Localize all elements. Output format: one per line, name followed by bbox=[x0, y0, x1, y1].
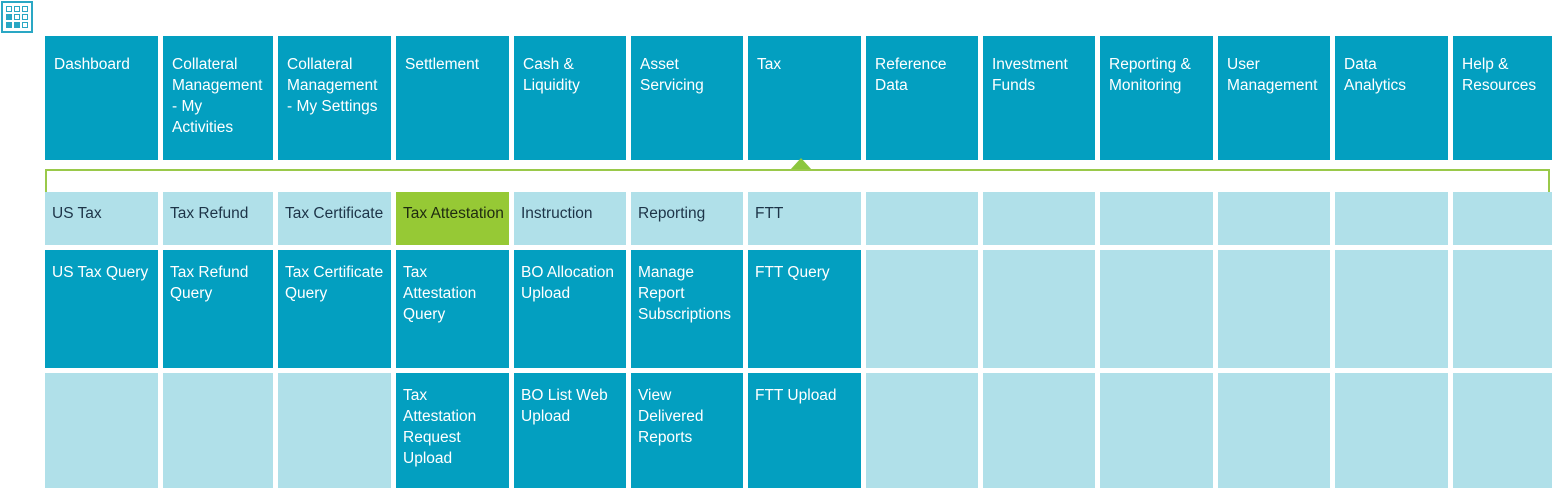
submenu-empty-cell bbox=[1453, 250, 1552, 368]
submenu-column bbox=[1335, 192, 1448, 488]
submenu-category-header[interactable]: US Tax bbox=[45, 192, 158, 245]
grid-cell bbox=[22, 22, 28, 28]
primary-menu-item[interactable]: Dashboard bbox=[45, 36, 158, 160]
submenu-empty-cell bbox=[1218, 192, 1330, 245]
submenu-empty-cell bbox=[45, 373, 158, 488]
submenu-column: FTTFTT QueryFTT Upload bbox=[748, 192, 861, 488]
primary-menu-item[interactable]: User Management bbox=[1218, 36, 1330, 160]
grid-cell bbox=[14, 6, 20, 12]
primary-menu-item[interactable]: Settlement bbox=[396, 36, 509, 160]
submenu-empty-cell bbox=[1453, 192, 1552, 245]
submenu-column bbox=[1100, 192, 1213, 488]
submenu-empty-cell bbox=[1453, 373, 1552, 488]
grid-cell bbox=[6, 22, 12, 28]
submenu-empty-cell bbox=[278, 373, 391, 488]
submenu-category-header[interactable]: Tax Attestation bbox=[396, 192, 509, 245]
submenu-empty-cell bbox=[1335, 192, 1448, 245]
submenu-item[interactable]: View Delivered Reports bbox=[631, 373, 743, 488]
submenu-column: Tax CertificateTax Certificate Query bbox=[278, 192, 391, 488]
submenu-empty-cell bbox=[1100, 373, 1213, 488]
submenu-frame-border bbox=[45, 169, 1550, 192]
grid-cell bbox=[6, 6, 12, 12]
submenu-column bbox=[983, 192, 1095, 488]
submenu-column bbox=[1218, 192, 1330, 488]
submenu-column: InstructionBO Allocation UploadBO List W… bbox=[514, 192, 626, 488]
grid-cell bbox=[22, 6, 28, 12]
primary-navigation-menu: DashboardCollateral Management - My Acti… bbox=[45, 36, 1552, 160]
primary-menu-item[interactable]: Cash & Liquidity bbox=[514, 36, 626, 160]
submenu-column bbox=[1453, 192, 1552, 488]
grid-cell bbox=[14, 22, 20, 28]
primary-menu-item[interactable]: Data Analytics bbox=[1335, 36, 1448, 160]
submenu-empty-cell bbox=[866, 373, 978, 488]
primary-menu-item[interactable]: Collateral Management - My Activities bbox=[163, 36, 273, 160]
submenu-grid: US TaxUS Tax QueryTax RefundTax Refund Q… bbox=[45, 192, 1552, 488]
primary-menu-item[interactable]: Collateral Management - My Settings bbox=[278, 36, 391, 160]
app-launcher-button[interactable] bbox=[1, 1, 33, 33]
submenu-category-header[interactable]: Instruction bbox=[514, 192, 626, 245]
grid-cell bbox=[6, 14, 12, 20]
submenu-empty-cell bbox=[1100, 192, 1213, 245]
submenu-empty-cell bbox=[983, 192, 1095, 245]
primary-menu-item[interactable]: Help & Resources bbox=[1453, 36, 1552, 160]
primary-menu-item[interactable]: Investment Funds bbox=[983, 36, 1095, 160]
primary-menu-item[interactable]: Tax bbox=[748, 36, 861, 160]
submenu-empty-cell bbox=[1335, 250, 1448, 368]
primary-menu-item[interactable]: Asset Servicing bbox=[631, 36, 743, 160]
submenu-empty-cell bbox=[1218, 373, 1330, 488]
submenu-column: US TaxUS Tax Query bbox=[45, 192, 158, 488]
submenu-empty-cell bbox=[1100, 250, 1213, 368]
submenu-category-header[interactable]: FTT bbox=[748, 192, 861, 245]
submenu-item[interactable]: Tax Refund Query bbox=[163, 250, 273, 368]
submenu-item[interactable]: Tax Attestation Request Upload bbox=[396, 373, 509, 488]
submenu-item[interactable]: Tax Attestation Query bbox=[396, 250, 509, 368]
submenu-item[interactable]: FTT Upload bbox=[748, 373, 861, 488]
grid-cell bbox=[22, 14, 28, 20]
submenu-item[interactable]: BO List Web Upload bbox=[514, 373, 626, 488]
submenu-empty-cell bbox=[866, 192, 978, 245]
submenu-column: Tax RefundTax Refund Query bbox=[163, 192, 273, 488]
submenu-empty-cell bbox=[983, 250, 1095, 368]
submenu-item[interactable]: BO Allocation Upload bbox=[514, 250, 626, 368]
submenu-category-header[interactable]: Tax Refund bbox=[163, 192, 273, 245]
submenu-column: ReportingManage Report SubscriptionsView… bbox=[631, 192, 743, 488]
submenu-empty-cell bbox=[1218, 250, 1330, 368]
submenu-category-header[interactable]: Tax Certificate bbox=[278, 192, 391, 245]
submenu-empty-cell bbox=[163, 373, 273, 488]
submenu-column bbox=[866, 192, 978, 488]
submenu-column: Tax AttestationTax Attestation QueryTax … bbox=[396, 192, 509, 488]
grid-apps-icon bbox=[6, 6, 28, 28]
submenu-empty-cell bbox=[1335, 373, 1448, 488]
submenu-item[interactable]: US Tax Query bbox=[45, 250, 158, 368]
submenu-item[interactable]: Tax Certificate Query bbox=[278, 250, 391, 368]
submenu-empty-cell bbox=[983, 373, 1095, 488]
primary-menu-item[interactable]: Reporting & Monitoring bbox=[1100, 36, 1213, 160]
primary-menu-item[interactable]: Reference Data bbox=[866, 36, 978, 160]
submenu-category-header[interactable]: Reporting bbox=[631, 192, 743, 245]
submenu-item[interactable]: FTT Query bbox=[748, 250, 861, 368]
submenu-empty-cell bbox=[866, 250, 978, 368]
grid-cell bbox=[14, 14, 20, 20]
submenu-item[interactable]: Manage Report Subscriptions bbox=[631, 250, 743, 368]
